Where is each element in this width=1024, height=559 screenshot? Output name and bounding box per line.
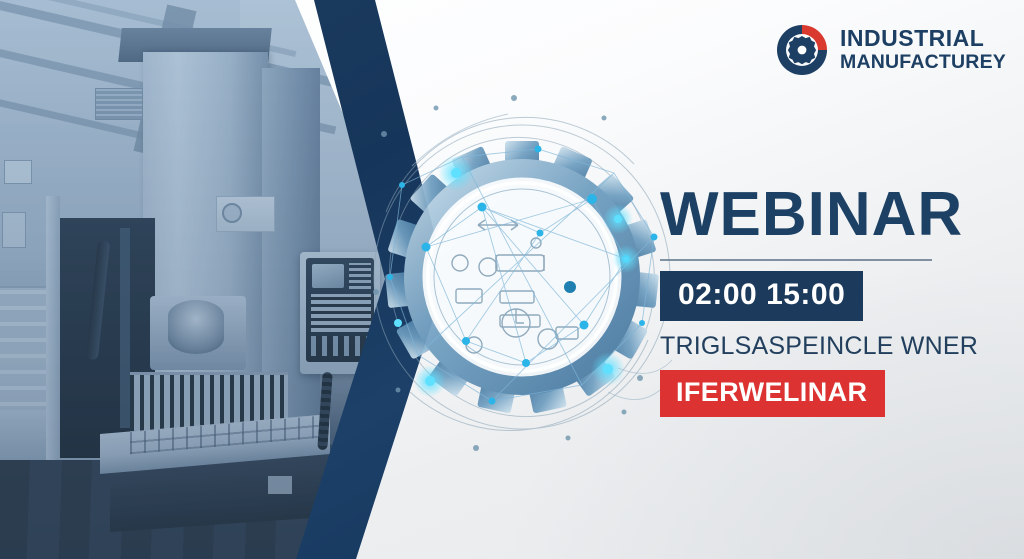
logo-line-1: INDUSTRIAL: [840, 27, 1006, 50]
time-badge: 02:00 15:00: [660, 271, 863, 321]
title-divider: [660, 259, 932, 261]
industrial-gear-circle-logo-icon: [774, 22, 830, 78]
subtitle: TRIGLSASPEINCLE WNER: [660, 332, 990, 361]
content-block: WEBINAR 02:00 15:00 TRIGLSASPEINCLE WNER…: [660, 186, 990, 417]
cta-badge[interactable]: IFERWELINAR: [660, 370, 885, 417]
webinar-banner: INDUSTRIAL MANUFACTUREY WEBINAR 02:00 15…: [0, 0, 1024, 559]
page-title: WEBINAR: [660, 186, 990, 245]
logo-line-2: MANUFACTUREY: [840, 53, 1006, 73]
gear-network-illustration: [372, 92, 682, 462]
brand-logo[interactable]: INDUSTRIAL MANUFACTUREY: [774, 22, 1006, 78]
